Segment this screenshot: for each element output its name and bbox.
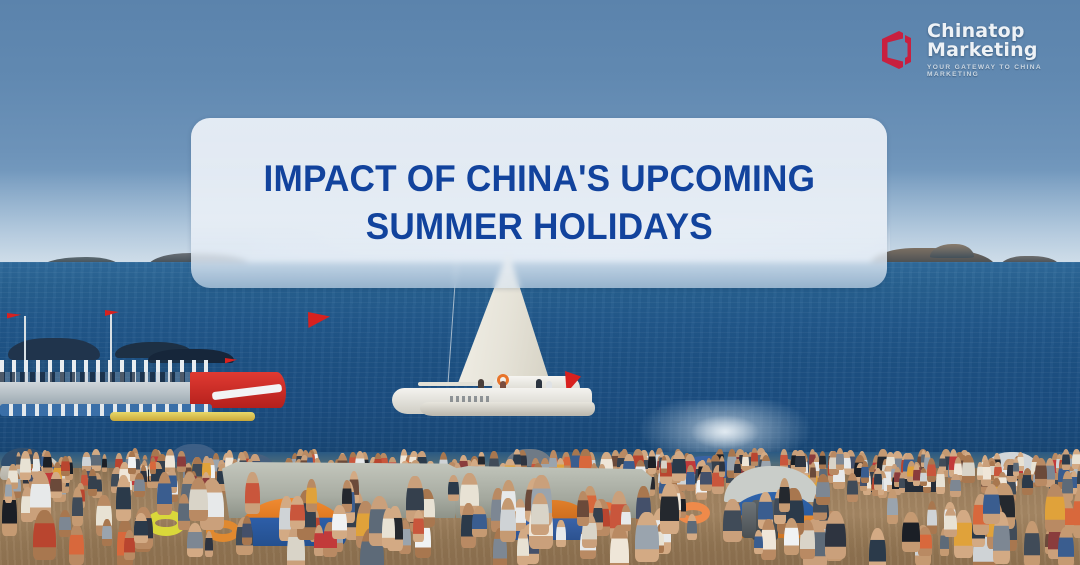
title-line-1: IMPACT OF CHINA'S UPCOMING (263, 158, 815, 199)
person-silhouette (635, 512, 658, 562)
person-silhouette (918, 527, 932, 555)
person-silhouette (189, 478, 208, 521)
brand-logo[interactable]: Chinatop Marketing YOUR GATEWAY TO CHINA… (872, 22, 1080, 78)
person-silhouette (819, 451, 827, 469)
flag-mast-icon (24, 316, 26, 366)
pier-deck (0, 382, 205, 406)
red-speedboat-icon (190, 372, 286, 408)
person-silhouette (944, 508, 957, 538)
beach-foreground-people (0, 470, 1080, 565)
person-silhouette (205, 531, 214, 558)
person-silhouette (761, 519, 776, 559)
person-silhouette (245, 472, 260, 514)
person-silhouette (887, 489, 898, 524)
person-silhouette (102, 454, 108, 471)
person-silhouette (448, 475, 459, 501)
person-silhouette (500, 498, 516, 543)
person-silhouette (869, 528, 887, 565)
person-silhouette (742, 452, 749, 471)
person-silhouette (290, 496, 305, 530)
title-line-2: SUMMER HOLIDAYS (365, 206, 712, 247)
person-silhouette (816, 474, 830, 504)
person-silhouette (1024, 521, 1041, 565)
person-silhouette (332, 505, 347, 539)
person-silhouette (754, 530, 763, 555)
person-silhouette (69, 524, 84, 565)
flag-mast-icon (110, 312, 112, 364)
boat-registration-text (450, 396, 492, 402)
person-silhouette (177, 451, 186, 471)
person-silhouette (157, 472, 173, 516)
person-silhouette (751, 448, 758, 466)
person-silhouette (687, 514, 697, 540)
person-silhouette (59, 510, 71, 536)
person-silhouette (836, 448, 844, 469)
person-silhouette (954, 510, 972, 558)
person-silhouette (902, 512, 920, 552)
person-silhouette (134, 513, 148, 543)
sailboat-hull-icon (420, 402, 595, 416)
title-card: IMPACT OF CHINA'S UPCOMING SUMMER HOLIDA… (191, 118, 887, 288)
person-silhouette (306, 479, 317, 511)
person-silhouette (564, 452, 571, 470)
person-silhouette (33, 510, 56, 561)
person-silhouette (660, 483, 678, 534)
person-silhouette (116, 475, 131, 521)
person-silhouette (556, 520, 565, 547)
person-silhouette (723, 499, 742, 542)
banner-image: IMPACT OF CHINA'S UPCOMING SUMMER HOLIDA… (0, 0, 1080, 565)
company-tagline: YOUR GATEWAY TO CHINA MARKETING (927, 65, 1080, 78)
person-silhouette (102, 519, 112, 546)
sun-glint-core (690, 415, 760, 449)
pier-canopy-icon (8, 338, 100, 360)
person-silhouette (1045, 484, 1066, 532)
company-name: Chinatop Marketing (927, 22, 1080, 60)
person-silhouette (242, 516, 252, 545)
person-silhouette (187, 523, 203, 557)
person-silhouette (5, 478, 13, 502)
chinatop-hexagon-c-monogram-icon (872, 26, 918, 74)
person-silhouette (472, 506, 487, 538)
person-silhouette (779, 478, 791, 512)
person-silhouette (382, 508, 395, 548)
page-title: IMPACT OF CHINA'S UPCOMING SUMMER HOLIDA… (238, 155, 839, 251)
person-silhouette (91, 449, 101, 471)
person-silhouette (847, 473, 858, 502)
person-silhouette (825, 511, 846, 559)
pier-float-pontoon (110, 412, 255, 421)
person-silhouette (50, 472, 62, 499)
logo-text-block: Chinatop Marketing YOUR GATEWAY TO CHINA… (927, 22, 1080, 78)
person-silhouette (1062, 449, 1070, 471)
